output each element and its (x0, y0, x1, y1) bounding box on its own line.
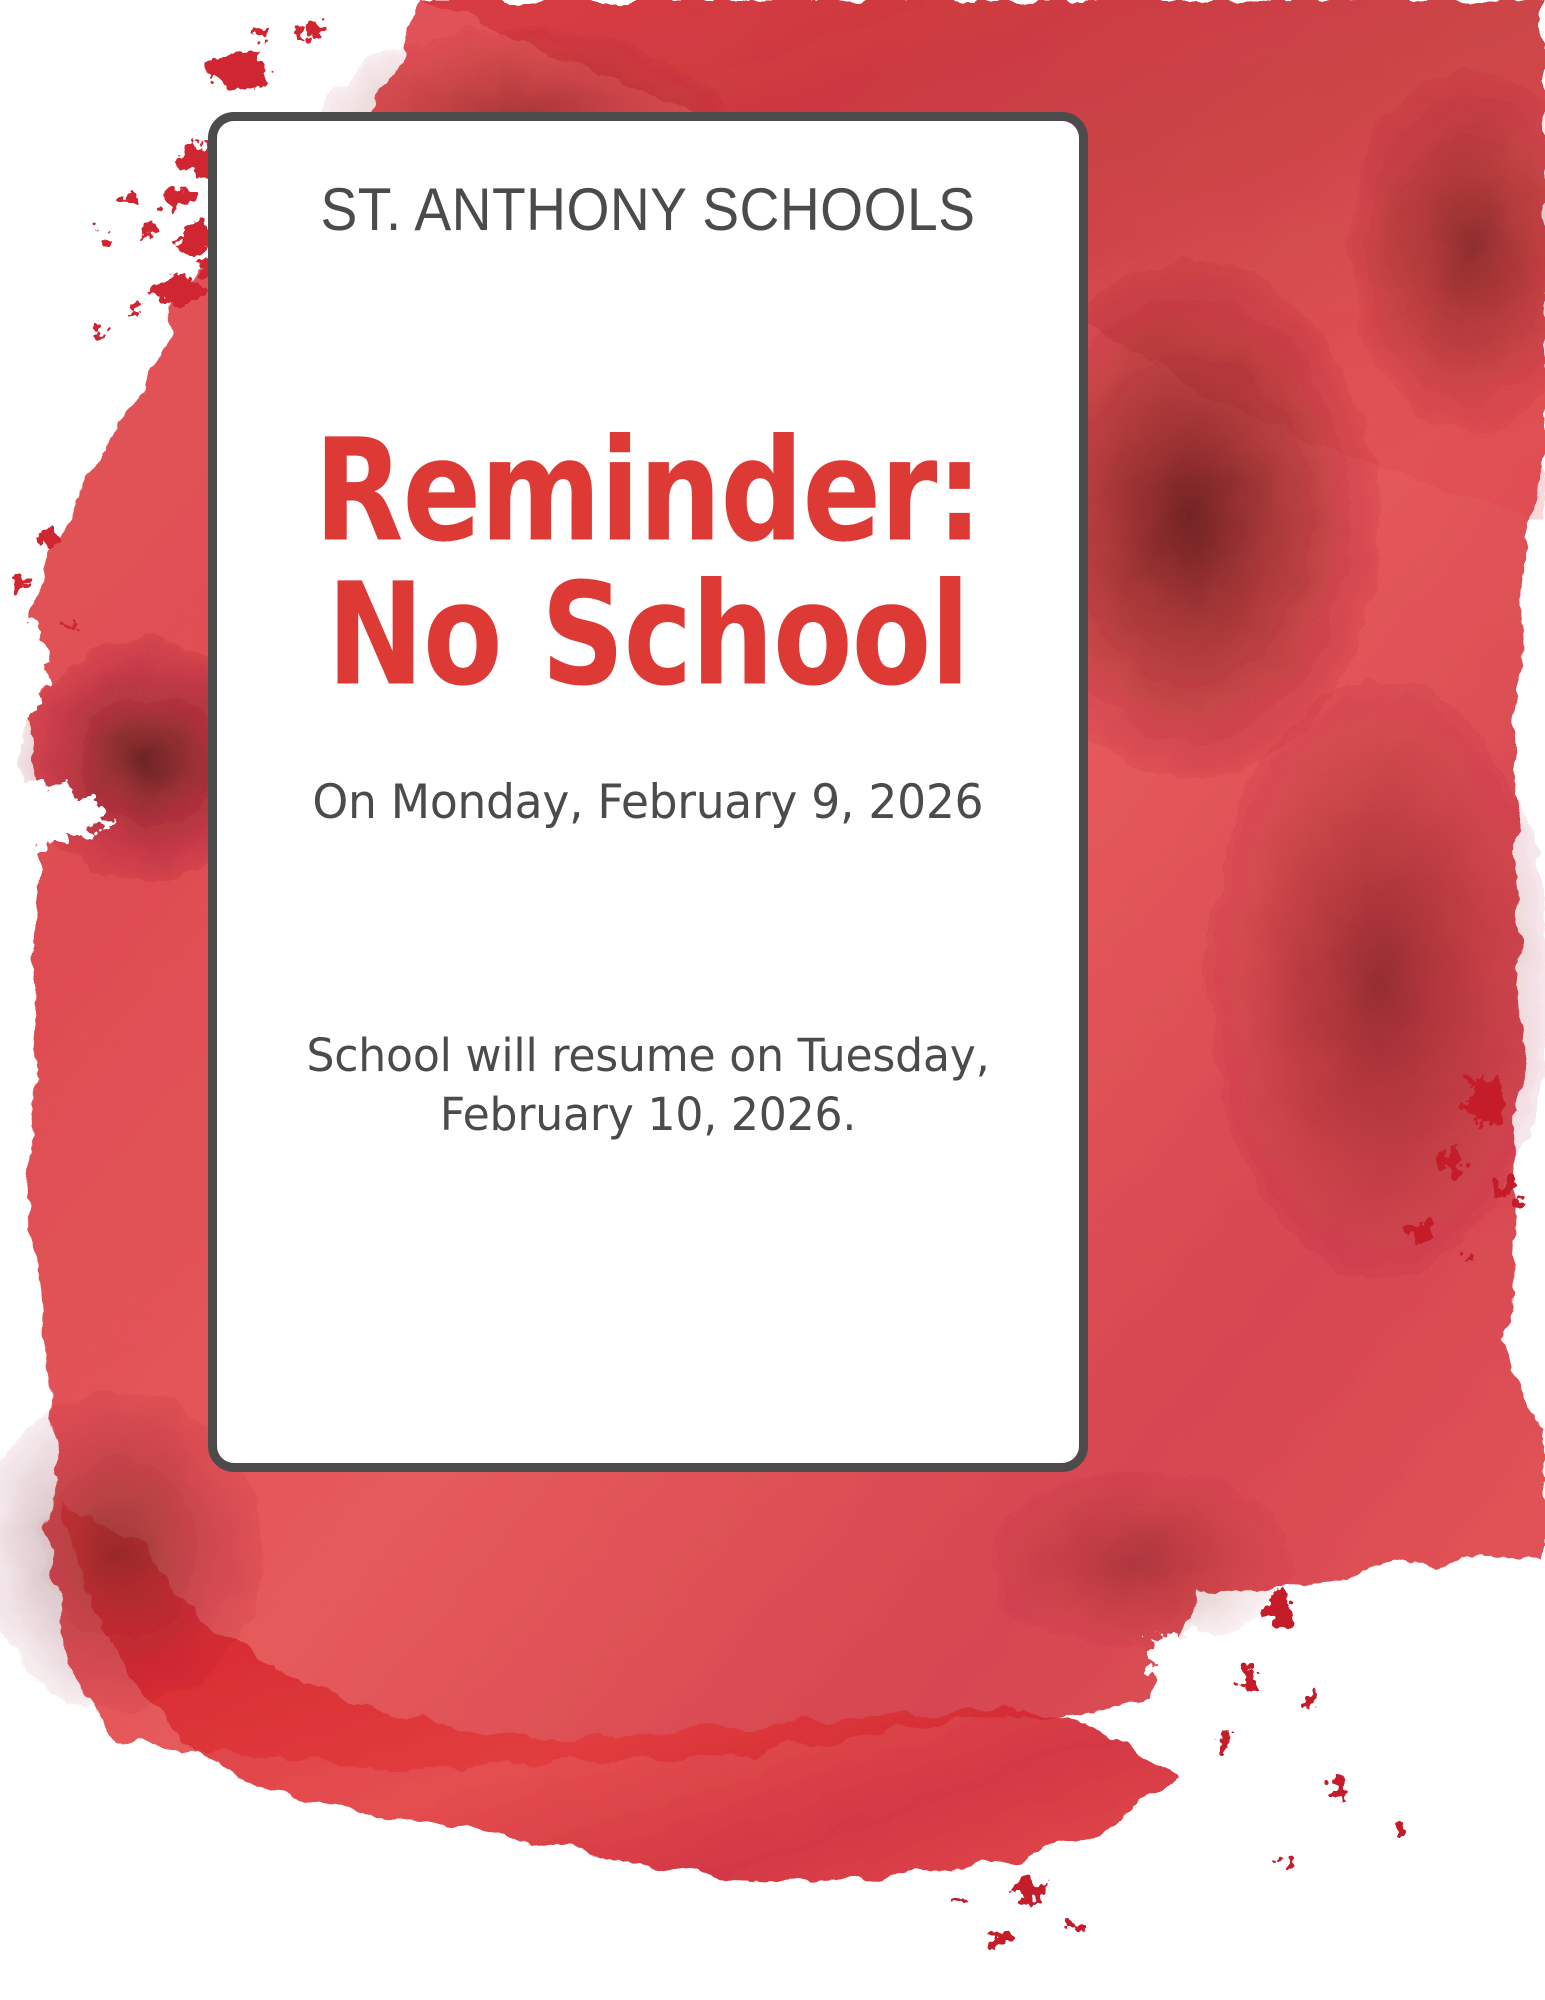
resume-note-line-2: February 10, 2026. (256, 1085, 1040, 1144)
poster-canvas: ST. ANTHONY SCHOOLS Reminder: No School … (0, 0, 1545, 2000)
resume-note: School will resume on Tuesday, February … (256, 1026, 1040, 1145)
school-name-heading: ST. ANTHONY SCHOOLS (321, 175, 976, 244)
headline-line-2: No School (314, 564, 982, 708)
announcement-card: ST. ANTHONY SCHOOLS Reminder: No School … (208, 112, 1088, 1472)
closure-date-text: On Monday, February 9, 2026 (313, 775, 984, 830)
page-title: Reminder: No School (314, 420, 982, 709)
headline-line-1: Reminder: (314, 420, 982, 564)
resume-note-line-1: School will resume on Tuesday, (256, 1026, 1040, 1085)
